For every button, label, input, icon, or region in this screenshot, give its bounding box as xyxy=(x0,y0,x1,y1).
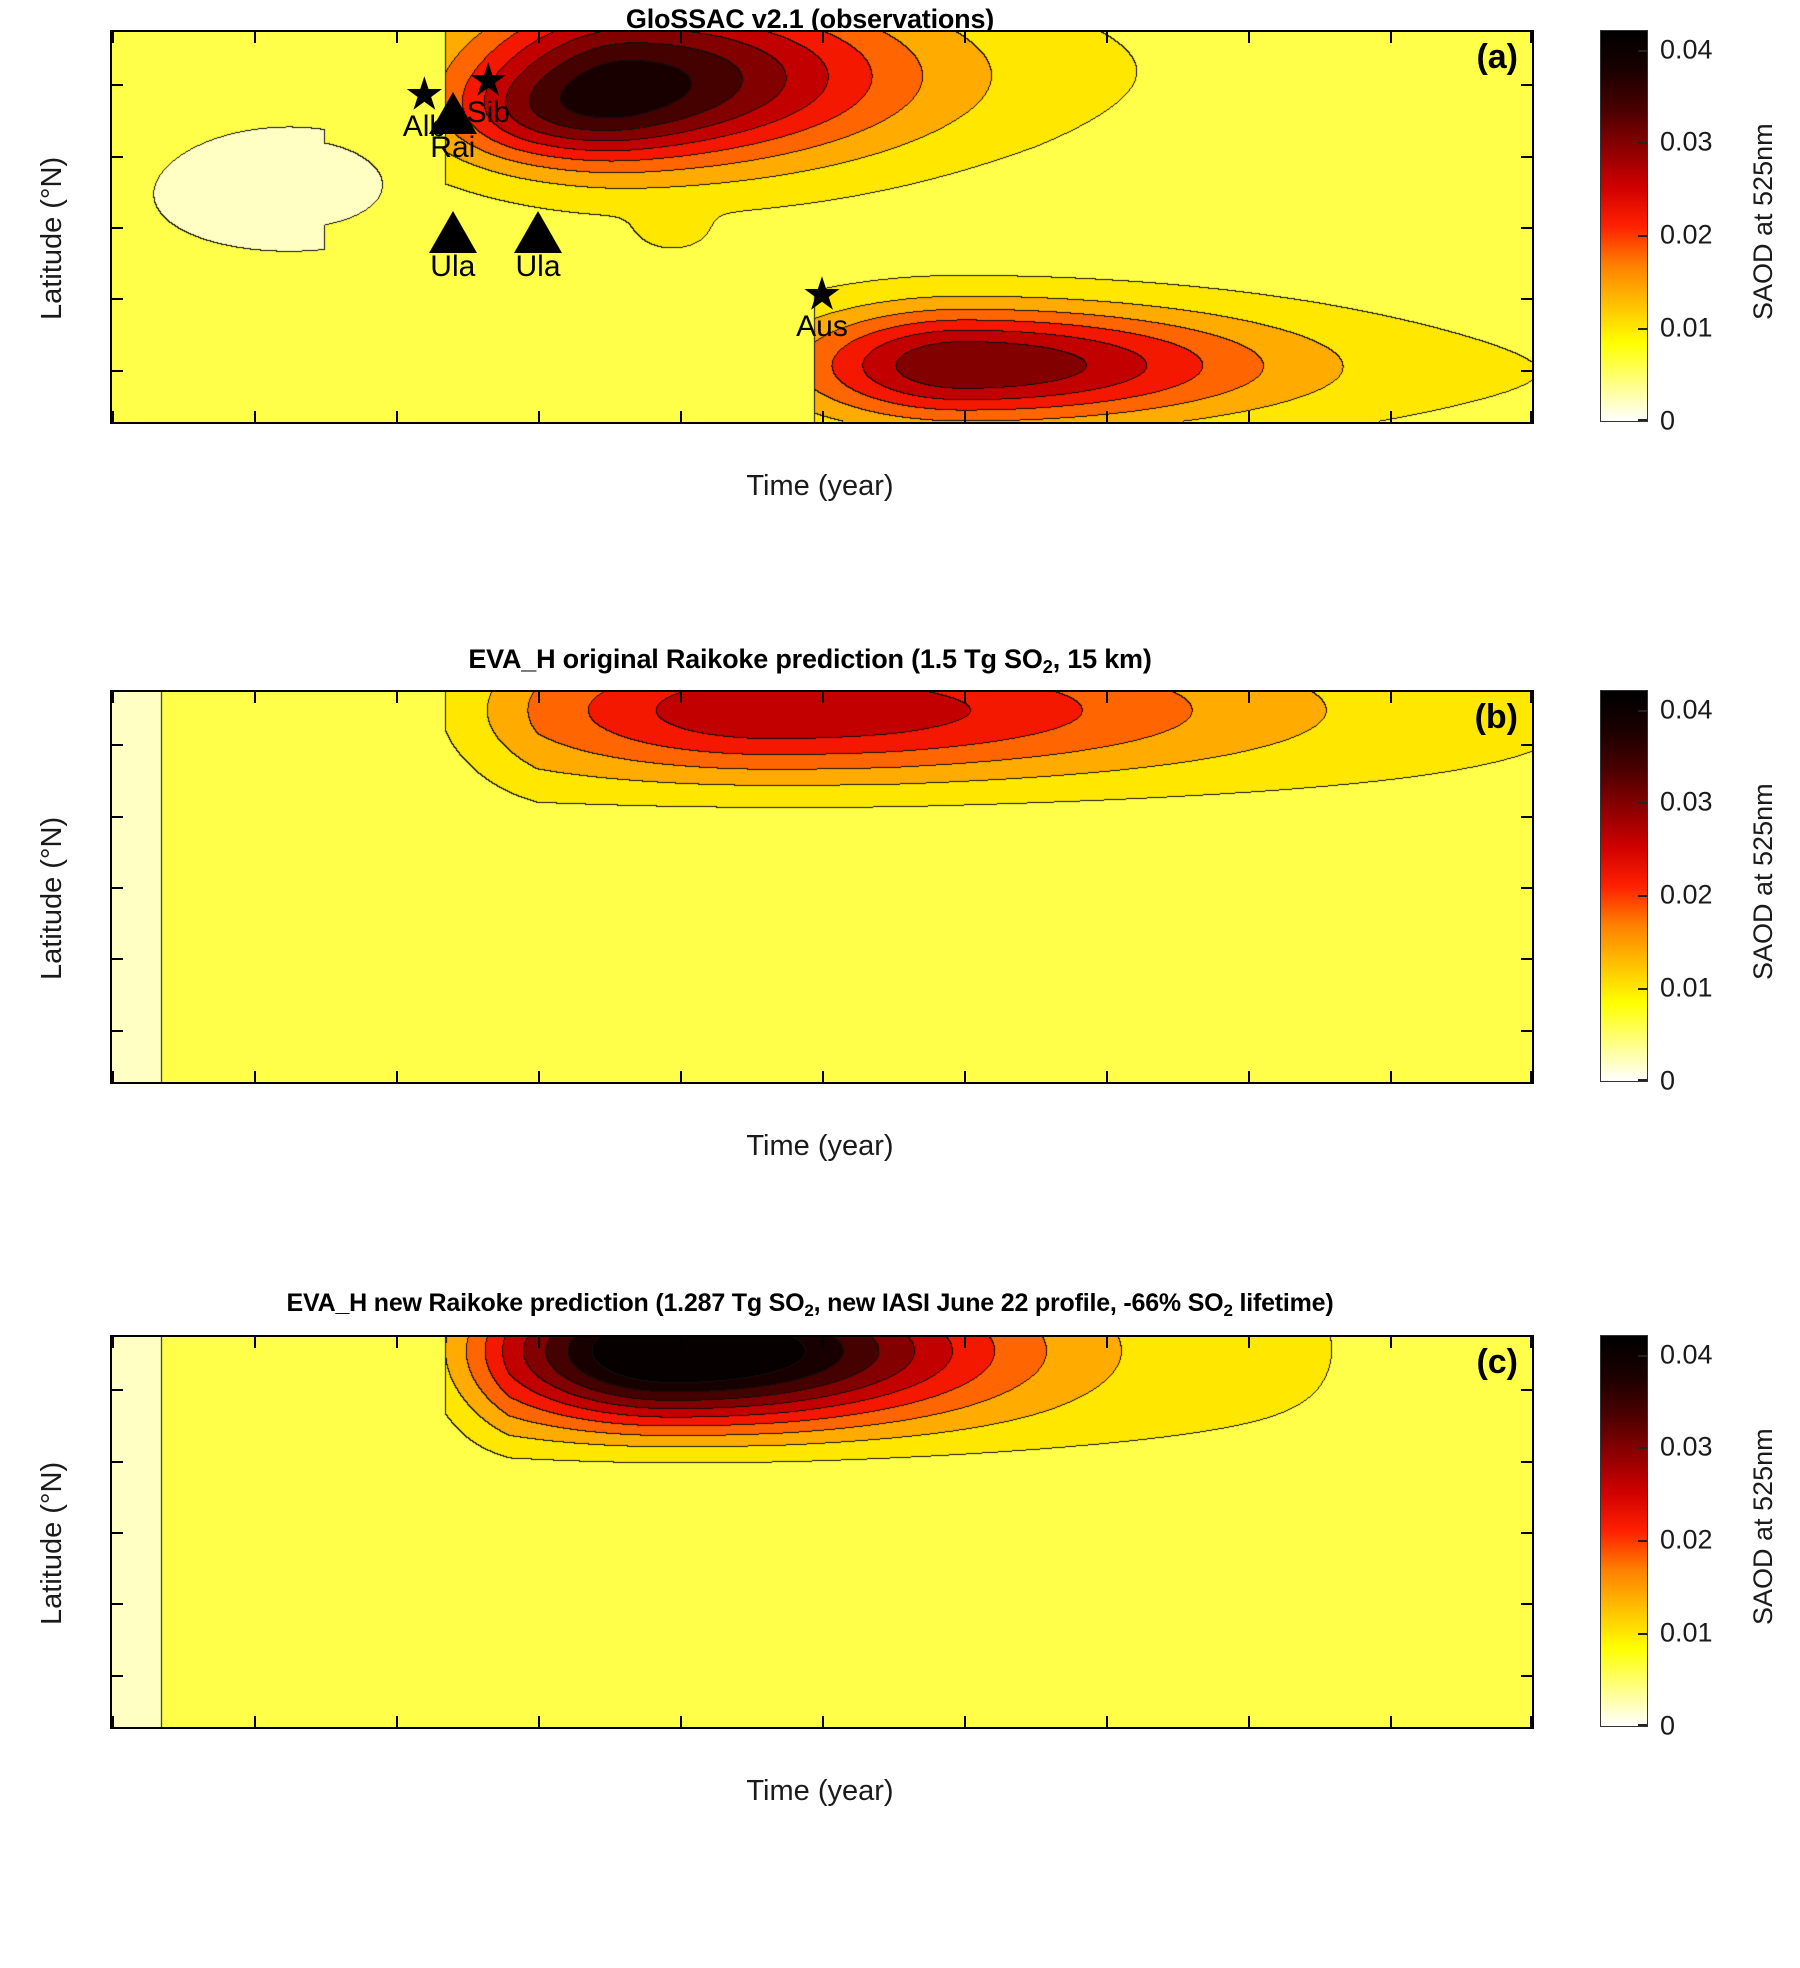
volcano-label: Aus xyxy=(796,310,848,344)
colorbar-tick-label: 0.04 xyxy=(1660,1339,1713,1370)
x-tickmark xyxy=(964,1337,966,1348)
y-tickmark xyxy=(112,1532,123,1534)
x-tickmark xyxy=(1106,32,1108,43)
y-tickmark xyxy=(1521,84,1532,86)
y-tickmark xyxy=(1521,1461,1532,1463)
colorbar-tickmark xyxy=(1638,1355,1647,1357)
panel-c-title: EVA_H new Raikoke prediction (1.287 Tg S… xyxy=(60,1289,1560,1321)
x-tickmark xyxy=(1248,32,1250,43)
colorbar-tickmark xyxy=(1638,1447,1647,1449)
y-tickmark xyxy=(1521,1030,1532,1032)
panel-b-label: (b) xyxy=(1475,698,1518,737)
volcano-label: Ula xyxy=(515,250,560,284)
panel-b-colorbar-label: SAOD at 525nm xyxy=(1748,783,1779,980)
y-tickmark xyxy=(1521,744,1532,746)
x-tickmark xyxy=(964,692,966,703)
colorbar-tickmark xyxy=(1638,895,1647,897)
colorbar-tickmark xyxy=(1638,988,1647,990)
colorbar-tickmark xyxy=(1638,1079,1647,1081)
x-tickmark xyxy=(822,1071,824,1082)
x-tickmark xyxy=(964,1716,966,1727)
x-tickmark xyxy=(1390,1337,1392,1348)
y-tickmark xyxy=(112,1461,123,1463)
panel-b-colorbar: 00.010.020.030.04 xyxy=(1600,690,1648,1082)
colorbar-tick-label: 0.04 xyxy=(1660,34,1713,65)
x-tickmark xyxy=(254,411,256,422)
x-tickmark xyxy=(1248,1337,1250,1348)
panel-c-title-pre: EVA_H new Raikoke prediction (1.287 Tg S… xyxy=(287,1289,805,1317)
x-tickmark xyxy=(1106,1337,1108,1348)
colorbar-tick-label: 0.02 xyxy=(1660,1525,1713,1556)
y-tickmark xyxy=(1521,1603,1532,1605)
colorbar-tick-label: 0 xyxy=(1660,406,1675,437)
x-tickmark xyxy=(680,1337,682,1348)
colorbar-tickmark xyxy=(1638,1633,1647,1635)
colorbar-tick-label: 0.03 xyxy=(1660,1432,1713,1463)
x-tickmark xyxy=(396,692,398,703)
colorbar-tick-label: 0 xyxy=(1660,1066,1675,1097)
panel-b-plot-area: (b) 60300-30-6020192019.22019.42019.6201… xyxy=(110,690,1534,1084)
panel-c-plot-area: (c) 60300-30-6020192019.22019.42019.6201… xyxy=(110,1335,1534,1729)
colorbar-tick-label: 0.02 xyxy=(1660,220,1713,251)
colorbar-tickmark xyxy=(1638,419,1647,421)
panel-b-title-sub: 2 xyxy=(1043,656,1053,677)
x-tickmark xyxy=(112,692,114,703)
panel-b-xlabel: Time (year) xyxy=(110,1130,1530,1163)
y-tickmark xyxy=(1521,370,1532,372)
x-tickmark xyxy=(1390,1071,1392,1082)
colorbar-tick-label: 0.01 xyxy=(1660,973,1713,1004)
x-tickmark xyxy=(538,1337,540,1348)
y-tickmark xyxy=(1521,958,1532,960)
x-tickmark xyxy=(822,32,824,43)
x-tickmark xyxy=(822,411,824,422)
y-tickmark xyxy=(112,156,123,158)
y-tickmark xyxy=(1521,227,1532,229)
panel-a-xlabel: Time (year) xyxy=(110,470,1530,503)
panel-b: EVA_H original Raikoke prediction (1.5 T… xyxy=(0,640,1800,1160)
colorbar-gradient xyxy=(1601,31,1647,421)
panel-c: EVA_H new Raikoke prediction (1.287 Tg S… xyxy=(0,1285,1800,1815)
x-tickmark xyxy=(1530,1071,1532,1082)
x-tickmark xyxy=(538,692,540,703)
y-tickmark xyxy=(112,227,123,229)
colorbar-tickmark xyxy=(1638,1724,1647,1726)
panel-a-colorbar-label: SAOD at 525nm xyxy=(1748,123,1779,320)
y-tickmark xyxy=(112,1030,123,1032)
x-tickmark xyxy=(680,1716,682,1727)
colorbar-tick-label: 0 xyxy=(1660,1711,1675,1742)
panel-a-contour-field xyxy=(112,32,1532,422)
panel-a-ylabel: Latitude (°N) xyxy=(36,157,69,320)
colorbar-tickmark xyxy=(1638,1540,1647,1542)
triangle-icon xyxy=(429,211,477,253)
x-tickmark xyxy=(1248,1716,1250,1727)
colorbar-gradient xyxy=(1601,691,1647,1081)
panel-c-xlabel: Time (year) xyxy=(110,1775,1530,1808)
panel-b-title-post: , 15 km) xyxy=(1053,644,1152,674)
panel-c-title-mid: , new IASI June 22 profile, -66% SO xyxy=(814,1289,1224,1317)
x-tickmark xyxy=(822,692,824,703)
x-tickmark xyxy=(1530,411,1532,422)
x-tickmark xyxy=(1530,32,1532,43)
x-tickmark xyxy=(538,1716,540,1727)
volcano-label: Rai xyxy=(430,131,475,165)
y-tickmark xyxy=(1521,816,1532,818)
x-tickmark xyxy=(112,1071,114,1082)
y-tickmark xyxy=(112,958,123,960)
y-tickmark xyxy=(112,1389,123,1391)
panel-a-plot-area: (a) 60300-30-6020192019.22019.42019.6201… xyxy=(110,30,1534,424)
x-tickmark xyxy=(254,1071,256,1082)
x-tickmark xyxy=(112,32,114,43)
x-tickmark xyxy=(1248,692,1250,703)
colorbar-tick-label: 0.03 xyxy=(1660,787,1713,818)
x-tickmark xyxy=(680,411,682,422)
x-tickmark xyxy=(1106,1716,1108,1727)
panel-b-title-pre: EVA_H original Raikoke prediction (1.5 T… xyxy=(468,644,1042,674)
x-tickmark xyxy=(680,692,682,703)
x-tickmark xyxy=(538,411,540,422)
x-tickmark xyxy=(396,1071,398,1082)
colorbar-tick-label: 0.04 xyxy=(1660,694,1713,725)
x-tickmark xyxy=(1390,32,1392,43)
x-tickmark xyxy=(1106,692,1108,703)
colorbar-tick-label: 0.02 xyxy=(1660,880,1713,911)
y-tickmark xyxy=(112,816,123,818)
triangle-icon xyxy=(429,92,477,134)
volcano-label: Ula xyxy=(430,250,475,284)
x-tickmark xyxy=(254,692,256,703)
x-tickmark xyxy=(964,1071,966,1082)
x-tickmark xyxy=(1530,1716,1532,1727)
y-tickmark xyxy=(112,1603,123,1605)
panel-a: GloSSAC v2.1 (observations) (a) 60300-30… xyxy=(0,0,1800,520)
x-tickmark xyxy=(254,1337,256,1348)
panel-b-title: EVA_H original Raikoke prediction (1.5 T… xyxy=(110,644,1510,678)
panel-c-title-sub: 2 xyxy=(804,1301,813,1320)
x-tickmark xyxy=(964,32,966,43)
x-tickmark xyxy=(396,411,398,422)
x-tickmark xyxy=(1530,692,1532,703)
x-tickmark xyxy=(538,1071,540,1082)
colorbar-tickmark xyxy=(1638,235,1647,237)
y-tickmark xyxy=(112,887,123,889)
y-tickmark xyxy=(1521,298,1532,300)
panel-b-ylabel: Latitude (°N) xyxy=(36,817,69,980)
panel-c-title-post: lifetime) xyxy=(1233,1289,1334,1317)
x-tickmark xyxy=(396,32,398,43)
y-tickmark xyxy=(112,1675,123,1677)
x-tickmark xyxy=(1390,692,1392,703)
panel-b-contour-field xyxy=(112,692,1532,1082)
x-tickmark xyxy=(112,1337,114,1348)
colorbar-tickmark xyxy=(1638,802,1647,804)
triangle-icon xyxy=(514,211,562,253)
panel-c-colorbar-label: SAOD at 525nm xyxy=(1748,1428,1779,1625)
x-tickmark xyxy=(1248,411,1250,422)
panel-a-colorbar: 00.010.020.030.04 xyxy=(1600,30,1648,422)
y-tickmark xyxy=(112,744,123,746)
x-tickmark xyxy=(680,1071,682,1082)
x-tickmark xyxy=(396,1337,398,1348)
y-tickmark xyxy=(112,370,123,372)
y-tickmark xyxy=(1521,887,1532,889)
x-tickmark xyxy=(822,1337,824,1348)
colorbar-tickmark xyxy=(1638,50,1647,52)
x-tickmark xyxy=(1248,1071,1250,1082)
x-tickmark xyxy=(1390,411,1392,422)
panel-c-ylabel: Latitude (°N) xyxy=(36,1462,69,1625)
panel-c-contour-field xyxy=(112,1337,1532,1727)
x-tickmark xyxy=(822,1716,824,1727)
panel-c-title-sub2: 2 xyxy=(1223,1301,1232,1320)
colorbar-tick-label: 0.01 xyxy=(1660,1618,1713,1649)
x-tickmark xyxy=(964,411,966,422)
y-tickmark xyxy=(112,298,123,300)
x-tickmark xyxy=(1106,411,1108,422)
colorbar-tickmark xyxy=(1638,710,1647,712)
star-icon: ★ xyxy=(801,275,842,312)
y-tickmark xyxy=(1521,1675,1532,1677)
x-tickmark xyxy=(254,32,256,43)
x-tickmark xyxy=(680,32,682,43)
y-tickmark xyxy=(1521,1389,1532,1391)
x-tickmark xyxy=(1390,1716,1392,1727)
x-tickmark xyxy=(112,1716,114,1727)
panel-c-colorbar: 00.010.020.030.04 xyxy=(1600,1335,1648,1727)
colorbar-tick-label: 0.01 xyxy=(1660,313,1713,344)
y-tickmark xyxy=(1521,1532,1532,1534)
panel-c-label: (c) xyxy=(1476,1343,1518,1382)
figure-root: GloSSAC v2.1 (observations) (a) 60300-30… xyxy=(0,0,1800,1968)
y-tickmark xyxy=(1521,156,1532,158)
x-tickmark xyxy=(1106,1071,1108,1082)
x-tickmark xyxy=(538,32,540,43)
x-tickmark xyxy=(112,411,114,422)
x-tickmark xyxy=(1530,1337,1532,1348)
colorbar-tickmark xyxy=(1638,142,1647,144)
panel-a-label: (a) xyxy=(1476,38,1518,77)
x-tickmark xyxy=(396,1716,398,1727)
colorbar-tickmark xyxy=(1638,328,1647,330)
colorbar-gradient xyxy=(1601,1336,1647,1726)
x-tickmark xyxy=(254,1716,256,1727)
colorbar-tick-label: 0.03 xyxy=(1660,127,1713,158)
y-tickmark xyxy=(112,84,123,86)
